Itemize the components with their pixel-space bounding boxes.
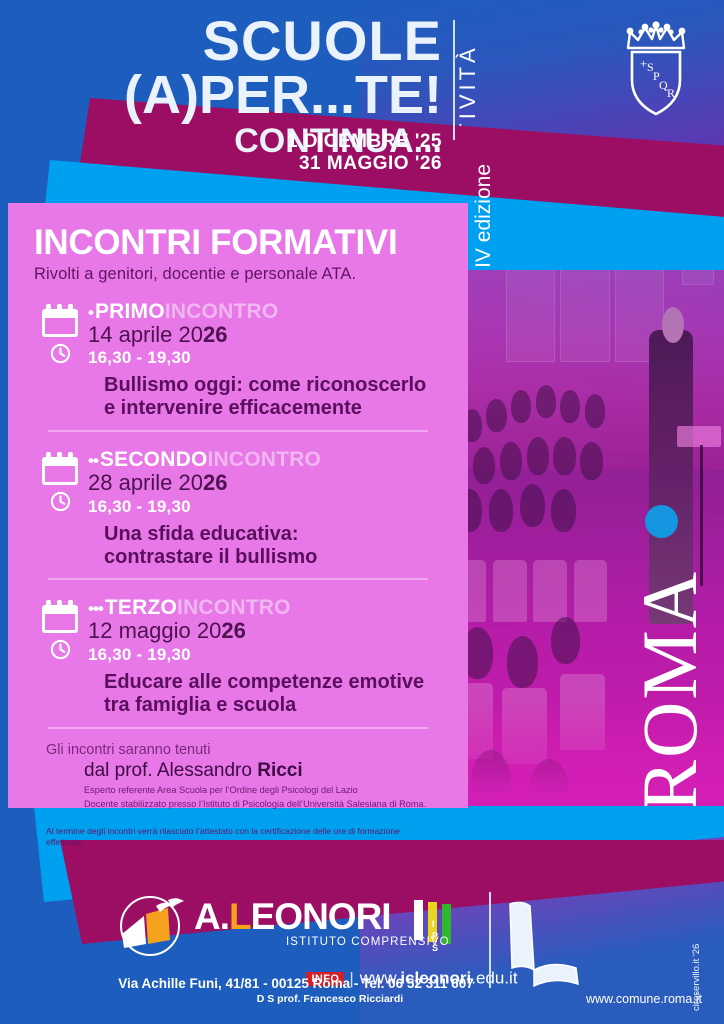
footer-divider: [489, 892, 491, 988]
date-end: 31 MAGGIO '26: [287, 153, 442, 175]
topic-line-2: contrastare il bullismo: [104, 546, 442, 569]
meeting-order: •PRIMOINCONTRO: [88, 301, 442, 322]
order-dots: •••: [88, 599, 103, 618]
calendar-icon: [40, 599, 80, 635]
meeting-topic: Bullismo oggi: come riconoscerlo e inter…: [104, 374, 442, 420]
order-dots: ••: [88, 451, 98, 470]
date-bold: 26: [221, 618, 245, 643]
speaker-name: dal prof. Alessandro Ricci: [46, 759, 434, 782]
title-line-1: SCUOLE: [124, 14, 442, 68]
calendar-icon: [40, 303, 80, 339]
clock-icon: [50, 639, 71, 660]
order-light: INCONTRO: [177, 596, 291, 619]
school-name-a: A.: [194, 896, 229, 937]
speaker-name-prefix: dal prof. Alessandro: [84, 760, 257, 781]
order-light: INCONTRO: [165, 300, 279, 323]
divider: [48, 578, 428, 580]
l-book-logo-icon: [504, 898, 584, 994]
meeting-item: ••SECONDOINCONTRO 28 aprile 2026 16,30 -…: [34, 449, 442, 568]
date-start: 1 DICEMBRE '25: [287, 131, 442, 153]
certification-note: Al termine degli incontri verrà rilascia…: [46, 826, 434, 848]
order-strong: TERZO: [105, 596, 177, 619]
divider: [48, 727, 428, 729]
event-dates: 1 DICEMBRE '25 31 MAGGIO '26: [287, 131, 442, 176]
meeting-order: ••SECONDOINCONTRO: [88, 449, 442, 470]
meeting-time: 16,30 - 19,30: [88, 347, 442, 369]
poster-footer: A.LEONORI IPS ISTITUTO COMPRENSIVO INFO|…: [0, 880, 724, 1024]
topic-line-2: e intervenire efficacemente: [104, 397, 442, 420]
poster-header: SCUOLE (A)PER...TE! CONTINUA... 1 DICEMB…: [0, 0, 724, 176]
meeting-item: •PRIMOINCONTRO 14 aprile 2026 16,30 - 19…: [34, 301, 442, 420]
calendar-icon: [40, 451, 80, 487]
order-dots: •: [88, 303, 93, 322]
order-strong: PRIMO: [95, 300, 165, 323]
designer-credit: ciroservillo.it '26: [691, 944, 702, 1011]
meeting-order: •••TERZOINCONTRO: [88, 597, 442, 618]
school-name-l: L: [229, 896, 251, 937]
order-light: INCONTRO: [208, 448, 322, 471]
panel-subheading: Rivolti a genitori, docentie e personale…: [34, 265, 442, 284]
clock-icon: [50, 491, 71, 512]
topic-line-1: Educare alle competenze emotive: [104, 671, 442, 694]
meeting-date: 14 aprile 2026: [88, 323, 442, 348]
school-name-rest: EONORI: [251, 896, 391, 937]
speaker-intro: Gli incontri saranno tenuti: [46, 741, 434, 759]
svg-text:R: R: [667, 86, 675, 100]
open-book-icon: [116, 896, 190, 956]
topic-line-2: tra famiglia e scuola: [104, 694, 442, 717]
school-logo: A.LEONORI IPS ISTITUTO COMPRENSIVO INFO|…: [116, 894, 476, 980]
school-subtitle: ISTITUTO COMPRENSIVO: [286, 936, 450, 948]
date-bold: 26: [203, 322, 227, 347]
meeting-date: 12 maggio 2026: [88, 619, 442, 644]
date-plain: 12 maggio 20: [88, 618, 221, 643]
speaker-info: Gli incontri saranno tenuti dal prof. Al…: [34, 741, 442, 848]
school-name: A.LEONORI: [194, 898, 391, 935]
spqr-emblem-icon: + S P Q R: [618, 18, 694, 122]
order-strong: SECONDO: [100, 448, 208, 471]
date-plain: 14 aprile 20: [88, 322, 203, 347]
date-bold: 26: [203, 470, 227, 495]
poster: LE ATTIVITÀ ROMA SCUOLE (A)PER...TE! CON…: [0, 0, 724, 1024]
meeting-topic: Educare alle competenze emotive tra fami…: [104, 671, 442, 717]
speaker-credential-2: Docente stabilizzato presso l’Istituto d…: [46, 798, 434, 810]
meeting-time: 16,30 - 19,30: [88, 644, 442, 666]
meeting-time: 16,30 - 19,30: [88, 496, 442, 518]
speaker-surname: Ricci: [257, 760, 302, 781]
vertical-rule: [453, 20, 455, 140]
panel-heading: INCONTRI FORMATIVI: [34, 225, 442, 261]
blue-dot-decoration: [645, 505, 678, 538]
meeting-date: 28 aprile 2026: [88, 471, 442, 496]
title-line-2: (A)PER...TE!: [124, 68, 442, 123]
edition-label: IV edizione: [472, 164, 496, 268]
clock-icon: [50, 343, 71, 364]
meeting-topic: Una sfida educativa: contrastare il bull…: [104, 523, 442, 569]
topic-line-1: Bullismo oggi: come riconoscerlo: [104, 374, 442, 397]
roma-label: ROMA: [625, 570, 715, 812]
school-principal: D S prof. Francesco Ricciardi: [150, 993, 510, 1005]
meeting-item: •••TERZOINCONTRO 12 maggio 2026 16,30 - …: [34, 597, 442, 716]
divider: [48, 430, 428, 432]
date-plain: 28 aprile 20: [88, 470, 203, 495]
comune-website-link[interactable]: www.comune.roma.it: [586, 992, 702, 1006]
topic-line-1: Una sfida educativa:: [104, 523, 442, 546]
speaker-credential-1: Esperto referente Area Scuola per l’Ordi…: [46, 784, 434, 796]
school-address: Via Achille Funi, 41/81 - 00125 Roma - T…: [96, 976, 496, 991]
info-panel: INCONTRI FORMATIVI Rivolti a genitori, d…: [8, 203, 468, 808]
